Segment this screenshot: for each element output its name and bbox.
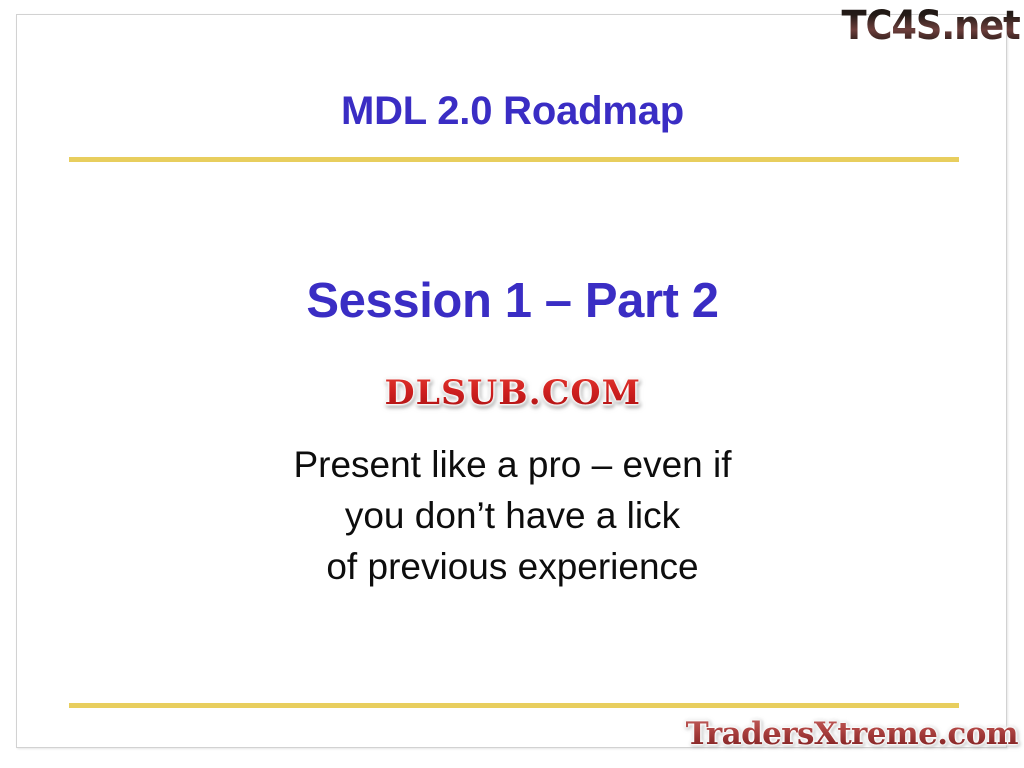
session-heading: Session 1 – Part 2: [17, 276, 1008, 327]
body-copy-line-1: Present like a pro – even if: [17, 439, 1008, 490]
dlsub-watermark-text: DLSUB.COM: [384, 373, 641, 413]
divider-rule-top: [69, 157, 959, 162]
slide-title: MDL 2.0 Roadmap: [17, 89, 1008, 133]
dlsub-watermark: DLSUB.COM: [17, 373, 1008, 413]
slide-frame: MDL 2.0 Roadmap Session 1 – Part 2 DLSUB…: [16, 14, 1007, 748]
body-copy: Present like a pro – even if you don’t h…: [17, 439, 1008, 592]
divider-rule-bottom: [69, 703, 959, 708]
slide-canvas: MDL 2.0 Roadmap Session 1 – Part 2 DLSUB…: [0, 0, 1024, 768]
body-copy-line-2: you don’t have a lick: [17, 490, 1008, 541]
body-copy-line-3: of previous experience: [17, 541, 1008, 592]
